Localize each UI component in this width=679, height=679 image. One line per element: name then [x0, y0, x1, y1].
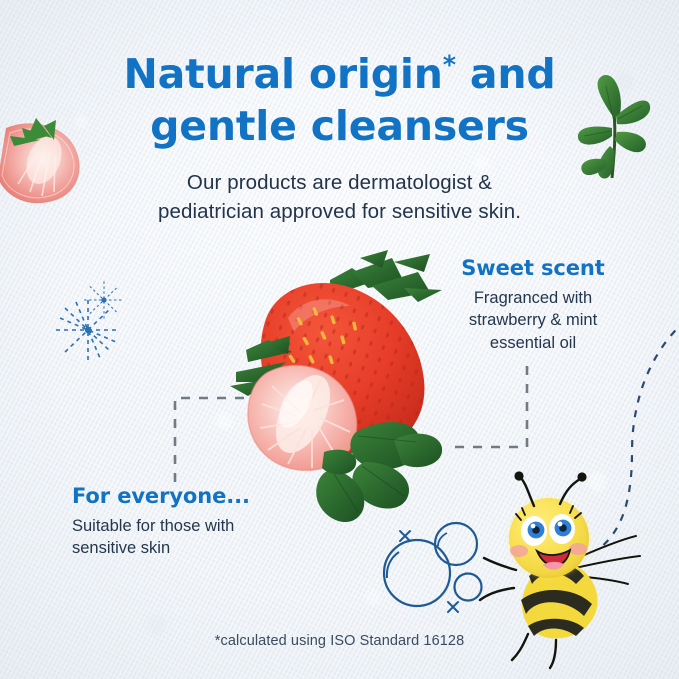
headline-line-1-text: Natural origin — [124, 50, 443, 98]
callout-sweet-scent-line-1: Fragranced with — [430, 287, 636, 309]
headline-line-1: Natural origin* and — [0, 48, 679, 100]
callout-sweet-scent-line-2: strawberry & mint — [430, 309, 636, 331]
subheadline-line-1: Our products are dermatologist & — [0, 168, 679, 197]
callout-sweet-scent-body: Fragranced with strawberry & mint essent… — [430, 287, 636, 354]
headline-line-1-tail: and — [456, 50, 556, 98]
headline: Natural origin* and gentle cleansers — [0, 48, 679, 153]
callout-sweet-scent: Sweet scent Fragranced with strawberry &… — [430, 256, 636, 354]
callout-for-everyone-line-2: sensitive skin — [72, 537, 302, 559]
callout-for-everyone-line-1: Suitable for those with — [72, 515, 302, 537]
callout-for-everyone: For everyone... Suitable for those with … — [72, 484, 302, 560]
headline-line-2: gentle cleansers — [0, 100, 679, 152]
callout-for-everyone-body: Suitable for those with sensitive skin — [72, 515, 302, 560]
headline-asterisk: * — [443, 49, 456, 79]
subheadline: Our products are dermatologist & pediatr… — [0, 168, 679, 226]
infographic-canvas: Natural origin* and gentle cleansers Our… — [0, 0, 679, 679]
callout-for-everyone-title: For everyone... — [72, 484, 302, 508]
footnote: *calculated using ISO Standard 16128 — [0, 633, 679, 649]
subheadline-line-2: pediatrician approved for sensitive skin… — [0, 197, 679, 226]
callout-sweet-scent-title: Sweet scent — [430, 256, 636, 280]
callout-sweet-scent-line-3: essential oil — [430, 332, 636, 354]
